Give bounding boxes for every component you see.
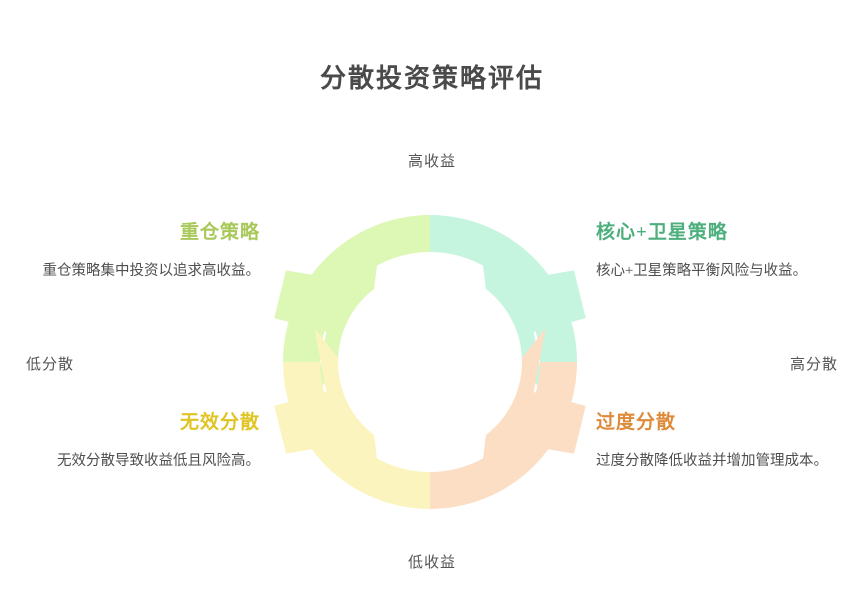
quadrant-top-right-heading: 核心+卫星策略 — [596, 222, 850, 245]
quadrant-top-right: 核心+卫星策略 核心+卫星策略平衡风险与收益。 — [596, 222, 850, 284]
axis-label-low-return: 低收益 — [0, 551, 864, 572]
quadrant-top-left-heading: 重仓策略 — [6, 222, 260, 245]
quadrant-bottom-left-heading: 无效分散 — [6, 412, 260, 435]
quadrant-bottom-right: 过度分散 过度分散降低收益并增加管理成本。 — [596, 412, 850, 474]
quadrant-top-right-description: 核心+卫星策略平衡风险与收益。 — [596, 259, 850, 284]
quadrant-top-left: 重仓策略 重仓策略集中投资以追求高收益。 — [6, 222, 260, 284]
axis-label-high-diversification: 高分散 — [790, 353, 838, 374]
page-title: 分散投资策略评估 — [0, 58, 864, 95]
cycle-inner-hub — [338, 270, 522, 454]
quadrant-bottom-left: 无效分散 无效分散导致收益低且风险高。 — [6, 412, 260, 474]
cycle-diagram — [268, 200, 592, 524]
quadrant-bottom-left-description: 无效分散导致收益低且风险高。 — [6, 449, 260, 474]
axis-label-high-return: 高收益 — [0, 150, 864, 171]
quadrant-top-left-description: 重仓策略集中投资以追求高收益。 — [6, 259, 260, 284]
quadrant-bottom-right-description: 过度分散降低收益并增加管理成本。 — [596, 449, 850, 474]
axis-label-low-diversification: 低分散 — [26, 353, 74, 374]
quadrant-bottom-right-heading: 过度分散 — [596, 412, 850, 435]
